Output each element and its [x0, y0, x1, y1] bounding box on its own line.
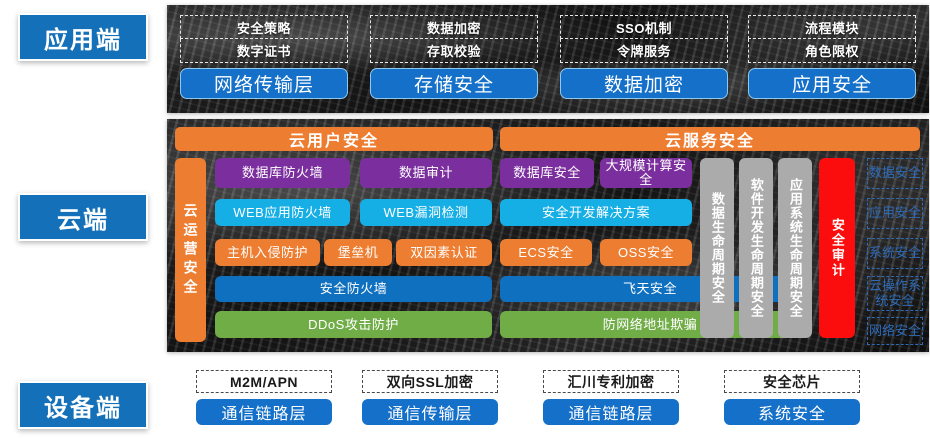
app-tag: 令牌服务 — [560, 39, 728, 63]
cloud-box-large-compute[interactable]: 大规模计算安全 — [600, 158, 692, 188]
app-pill[interactable]: 网络传输层 — [180, 68, 348, 99]
app-tag: 数字证书 — [180, 39, 348, 63]
cloud-box-db-firewall[interactable]: 数据库防火墙 — [215, 158, 350, 188]
cloud-box-app-lifecycle[interactable]: 应用系统生命周期安全 — [778, 158, 812, 338]
app-pill[interactable]: 应用安全 — [748, 68, 916, 99]
device-tag: 安全芯片 — [724, 370, 860, 393]
cloud-box-sdlc[interactable]: 软件开发生命周期安全 — [739, 158, 773, 338]
cloud-box-data-audit[interactable]: 数据审计 — [360, 158, 492, 188]
application-layer-panel: 安全策略 数字证书 网络传输层 数据加密 存取校验 存储安全 SSO机制 令牌服… — [167, 5, 929, 113]
app-tag: 存取校验 — [370, 39, 538, 63]
tier-label-application: 应用端 — [18, 13, 148, 61]
device-pill[interactable]: 系统安全 — [724, 399, 860, 425]
app-column-network: 安全策略 数字证书 网络传输层 — [180, 15, 348, 105]
device-column-m2m: M2M/APN 通信链路层 — [196, 370, 332, 425]
right-label-cloud-os-security: 云操作系统安全 — [867, 276, 923, 311]
device-column-ssl: 双向SSL加密 通信传输层 — [362, 370, 498, 425]
cloud-box-web-app-firewall[interactable]: WEB应用防火墙 — [215, 199, 350, 226]
cloud-box-ddos-protection[interactable]: DDoS攻击防护 — [215, 311, 492, 338]
app-tag: 角色限权 — [748, 39, 916, 63]
right-label-data-security: 数据安全 — [867, 158, 923, 189]
device-pill[interactable]: 通信链路层 — [543, 399, 679, 425]
cloud-box-oss-security[interactable]: OSS安全 — [600, 239, 692, 266]
cloud-box-bastion[interactable]: 堡垒机 — [324, 239, 392, 266]
cloud-box-2fa[interactable]: 双因素认证 — [396, 239, 492, 266]
tier-label-cloud: 云端 — [18, 193, 148, 241]
app-pill[interactable]: 存储安全 — [370, 68, 538, 99]
app-column-appsec: 流程模块 角色限权 应用安全 — [748, 15, 916, 105]
app-column-storage: 数据加密 存取校验 存储安全 — [370, 15, 538, 105]
cloud-box-data-lifecycle[interactable]: 数据生命周期安全 — [700, 158, 734, 338]
tier-label-device: 设备端 — [18, 381, 148, 429]
cloud-box-security-firewall[interactable]: 安全防火墙 — [215, 276, 492, 302]
app-column-encryption: SSO机制 令牌服务 数据加密 — [560, 15, 728, 105]
app-tag: SSO机制 — [560, 15, 728, 39]
cloud-box-security-audit[interactable]: 安全审计 — [819, 158, 855, 338]
cloud-box-secure-dev[interactable]: 安全开发解决方案 — [500, 199, 692, 226]
right-label-system-security: 系统安全 — [867, 238, 923, 269]
security-architecture-diagram: 应用端 云端 设备端 安全策略 数字证书 网络传输层 数据加密 存取校验 存储安… — [0, 0, 930, 438]
app-pill[interactable]: 数据加密 — [560, 68, 728, 99]
cloud-box-web-vuln-scan[interactable]: WEB漏洞检测 — [360, 199, 492, 226]
cloud-box-ecs-security[interactable]: ECS安全 — [500, 239, 592, 266]
cloud-layer-panel: 云用户安全 云服务安全 云运营安全 数据库防火墙 数据审计 数据库安全 大规模计… — [167, 119, 929, 352]
device-pill[interactable]: 通信链路层 — [196, 399, 332, 425]
right-label-network-security: 网络安全 — [867, 317, 923, 345]
device-pill[interactable]: 通信传输层 — [362, 399, 498, 425]
device-column-patent-encryption: 汇川专利加密 通信链路层 — [543, 370, 679, 425]
app-tag: 安全策略 — [180, 15, 348, 39]
app-tag: 数据加密 — [370, 15, 538, 39]
device-tag: 双向SSL加密 — [362, 370, 498, 393]
cloud-service-security-header: 云服务安全 — [500, 127, 920, 151]
right-label-app-security: 应用安全 — [867, 198, 923, 229]
cloud-user-security-header: 云用户安全 — [175, 127, 493, 151]
device-column-security-chip: 安全芯片 系统安全 — [724, 370, 860, 425]
cloud-box-db-security[interactable]: 数据库安全 — [500, 158, 594, 188]
device-tag: M2M/APN — [196, 370, 332, 393]
cloud-operation-security-bar: 云运营安全 — [175, 158, 206, 342]
app-tag: 流程模块 — [748, 15, 916, 39]
cloud-box-host-ids[interactable]: 主机入侵防护 — [215, 239, 320, 266]
device-tag: 汇川专利加密 — [543, 370, 679, 393]
